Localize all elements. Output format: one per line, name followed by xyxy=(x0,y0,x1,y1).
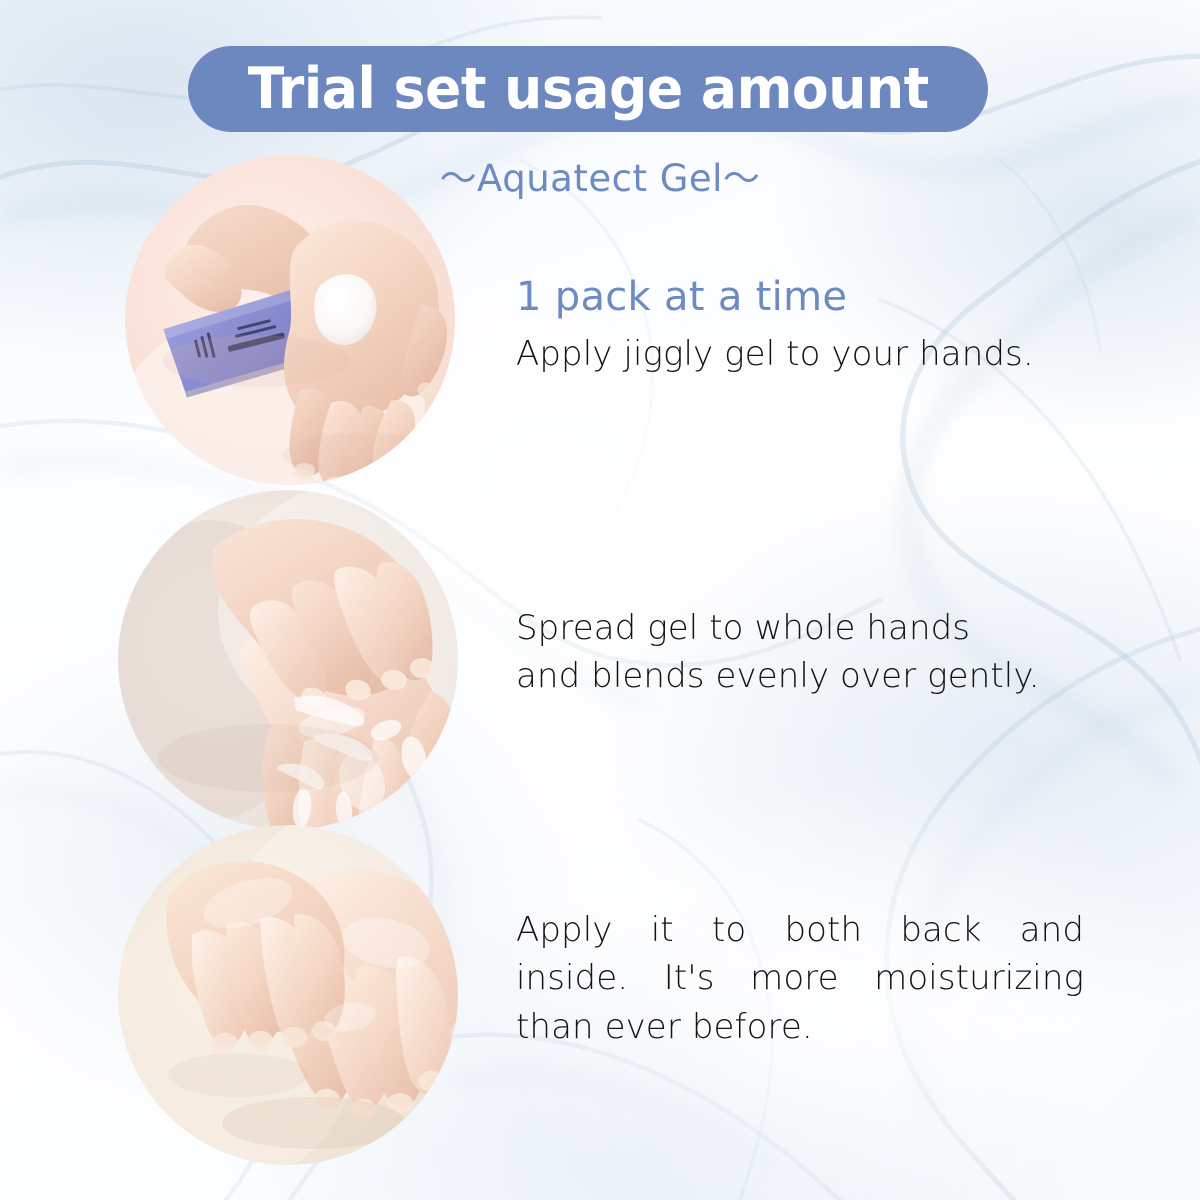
step-3-body: Apply it to both back and inside. It's m… xyxy=(516,906,1084,1051)
step-3-text: Apply it to both back and inside. It's m… xyxy=(516,906,1116,1051)
step-3-body-line-2: inside. It's more moisturizing xyxy=(516,954,1084,1002)
title-banner: Trial set usage amount xyxy=(188,46,988,132)
product-subtitle: 〜Aquatect Gel〜 xyxy=(0,148,1200,202)
step-1-body-line-1: Apply jiggly gel to your hands. xyxy=(516,330,1116,378)
step-2-body-line-2: and blends evenly over gently. xyxy=(516,652,1116,700)
spreading-gel-on-hands-photo xyxy=(118,490,458,830)
step-3-body-line-3: than ever before. xyxy=(516,1003,1084,1051)
step-2-text: Spread gel to whole hands and blends eve… xyxy=(516,604,1116,701)
step-1-body: Apply jiggly gel to your hands. xyxy=(516,330,1116,378)
applying-gel-both-sides-photo xyxy=(118,825,458,1165)
step-2-body-line-1: Spread gel to whole hands xyxy=(516,604,1116,652)
usage-instruction-graphic: Trial set usage amount 〜Aquatect Gel〜 xyxy=(0,0,1200,1200)
step-2-body: Spread gel to whole hands and blends eve… xyxy=(516,604,1116,701)
page-title: Trial set usage amount xyxy=(247,61,928,118)
step-1-text: 1 pack at a time Apply jiggly gel to you… xyxy=(516,274,1116,378)
step-1-heading: 1 pack at a time xyxy=(516,274,1116,320)
step-3-body-line-1: Apply it to both back and xyxy=(516,906,1084,954)
hand-squeezing-gel-sachet-photo xyxy=(125,155,455,485)
